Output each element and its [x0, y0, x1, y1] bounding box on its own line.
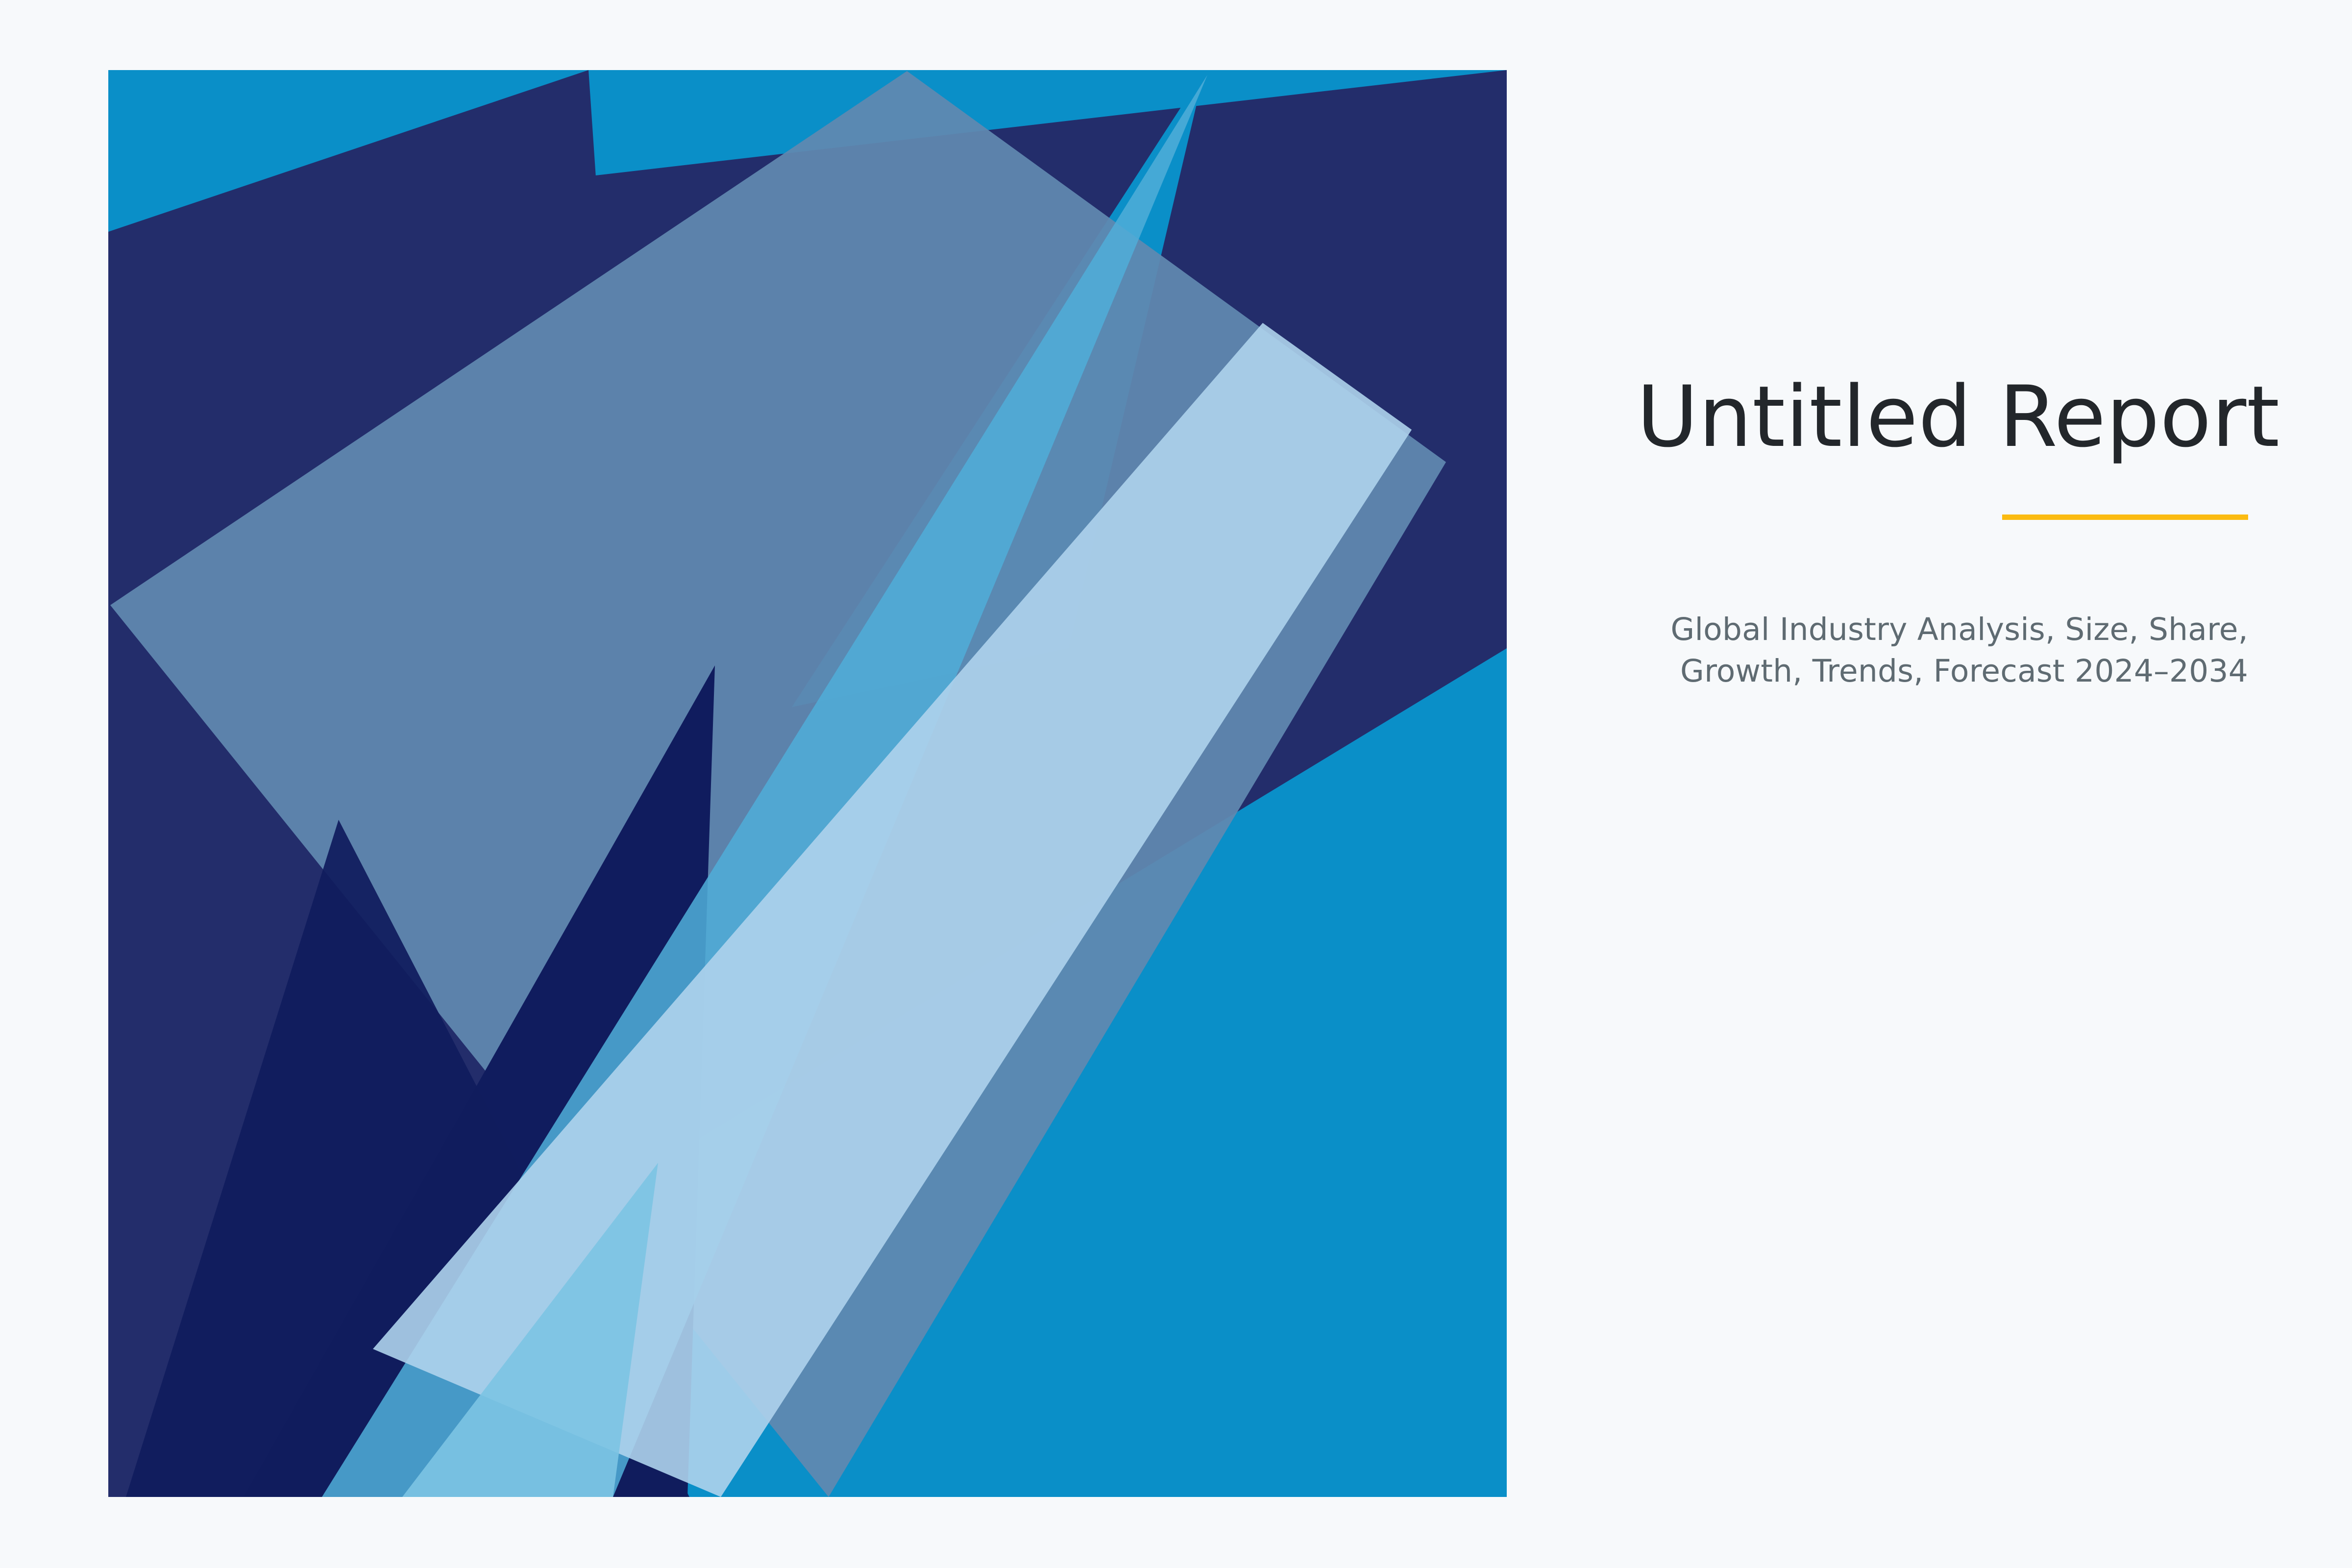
page-title: Untitled Report: [1637, 372, 2248, 462]
page-subtitle-line-1: Global Industry Analysis, Size, Share,: [1637, 609, 2248, 650]
accent-rule: [2002, 514, 2248, 520]
page-subtitle: Global Industry Analysis, Size, Share, G…: [1637, 609, 2248, 692]
cover-text-column: Untitled Report Global Industry Analysis…: [1637, 372, 2248, 692]
cover-artwork: [107, 70, 1508, 1497]
report-cover-page: Untitled Report Global Industry Analysis…: [0, 0, 2352, 1568]
accent-rule-container: [1637, 514, 2248, 520]
page-subtitle-line-2: Growth, Trends, Forecast 2024–2034: [1637, 651, 2248, 692]
cover-artwork-svg: [107, 70, 1508, 1497]
